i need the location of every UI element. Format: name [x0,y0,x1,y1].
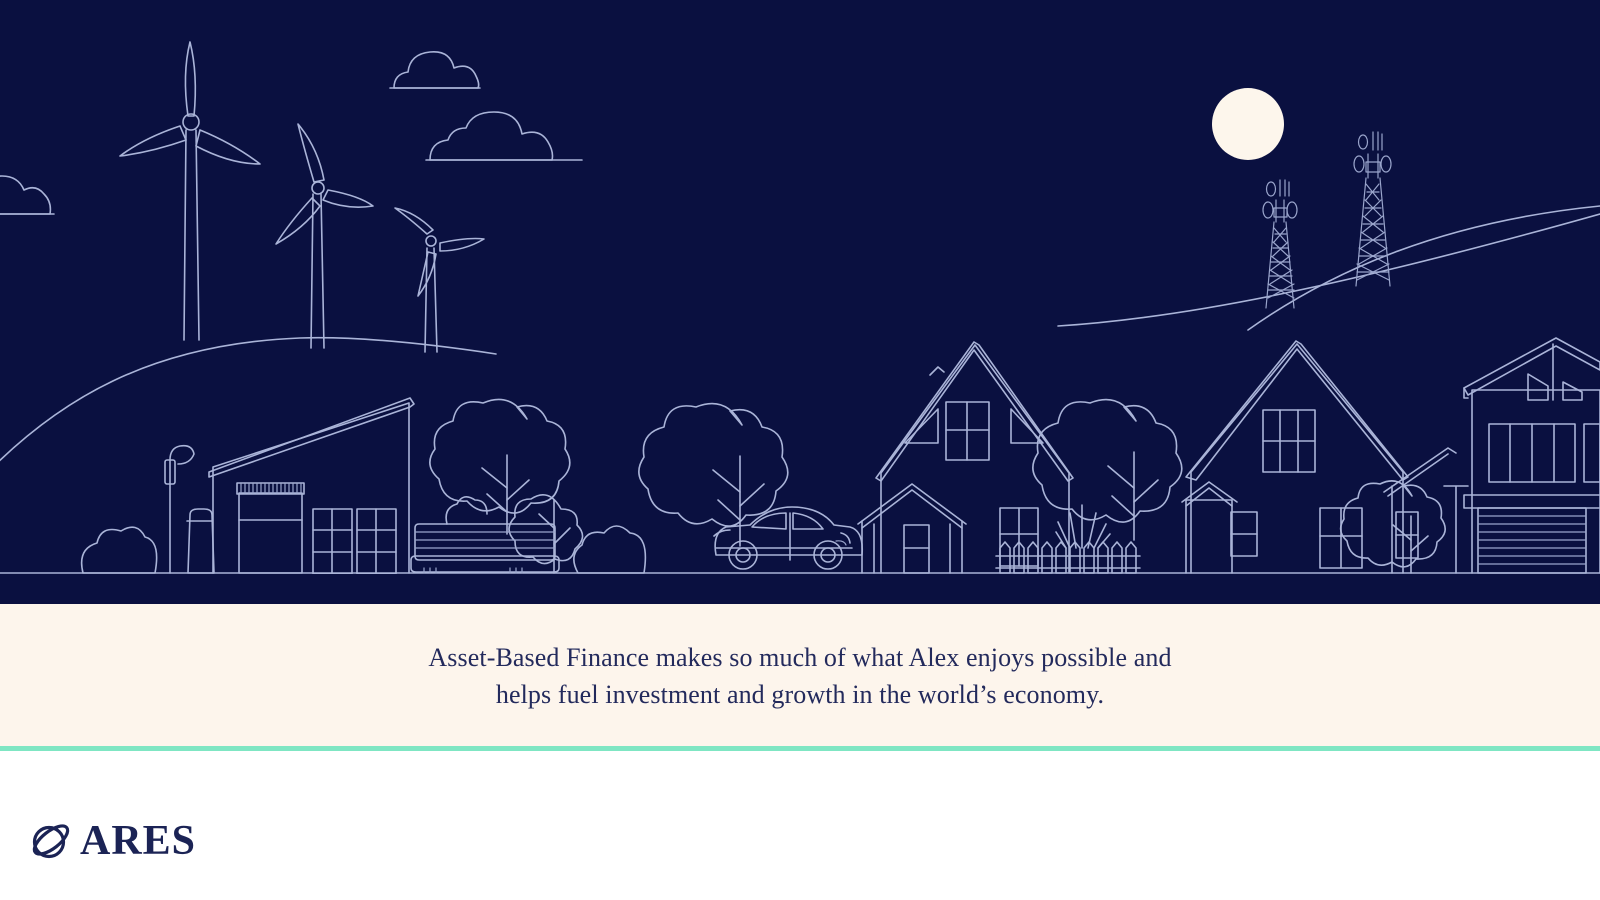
ares-wordmark: ARES [80,820,196,862]
caption-band: Asset-Based Finance makes so much of wha… [0,604,1600,748]
slide-root: .ln { fill:none; stroke:#aab4d8; stroke-… [0,0,1600,900]
moon-icon [1212,88,1284,160]
night-scene-svg: .ln { fill:none; stroke:#aab4d8; stroke-… [0,0,1600,604]
ares-logo[interactable]: ARES [28,819,196,863]
hero-illustration: .ln { fill:none; stroke:#aab4d8; stroke-… [0,0,1600,604]
ares-orbit-mark-icon [28,819,74,863]
footer: ARES [0,751,1600,900]
caption-text: Asset-Based Finance makes so much of wha… [350,639,1250,714]
ground-fill [0,574,1600,604]
